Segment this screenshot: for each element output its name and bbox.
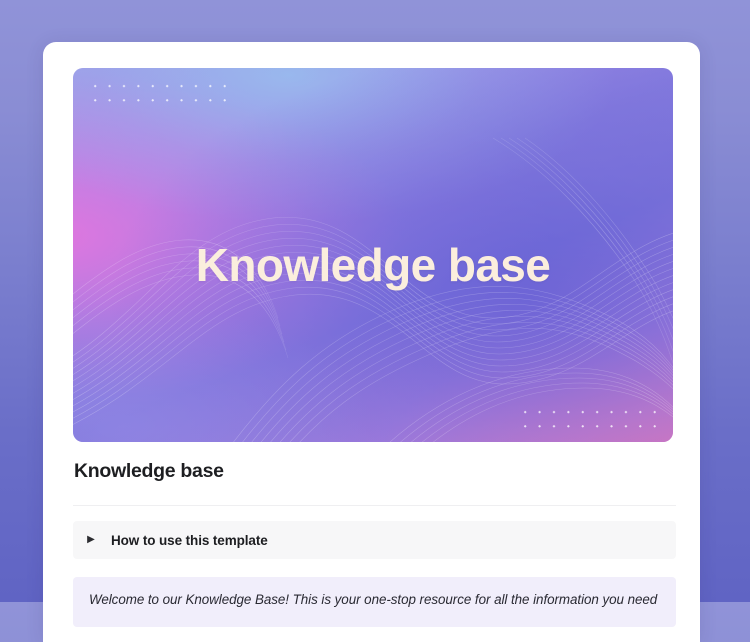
document-card: Knowledge base Knowledge base ▶ How to u… [43,42,700,642]
page-backdrop: Knowledge base Knowledge base ▶ How to u… [0,0,750,602]
chevron-right-icon[interactable]: ▶ [83,535,99,545]
toggle-label: How to use this template [111,533,268,548]
toggle-block-how-to-use-this-template[interactable]: ▶ How to use this template [73,521,676,559]
hero-cover-image: Knowledge base [73,68,673,442]
hero-title: Knowledge base [73,238,673,292]
callout-text: Welcome to our Knowledge Base! This is y… [89,592,657,607]
page-title: Knowledge base [73,460,676,483]
title-divider [73,505,676,506]
dot-grid-bottom-right-icon [515,402,665,434]
dot-grid-top-left-icon [85,76,230,108]
